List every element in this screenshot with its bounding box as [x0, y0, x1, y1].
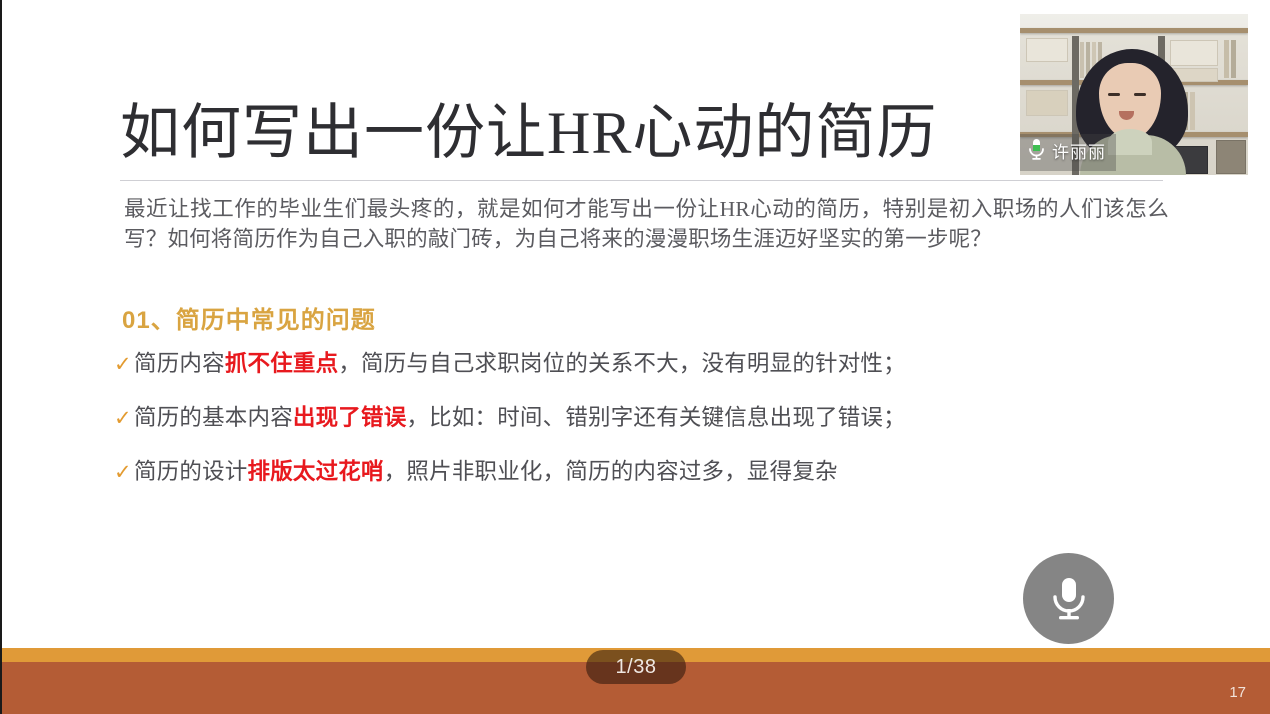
checkmark-icon: ✓	[114, 348, 134, 380]
participant-name-badge: 许丽丽	[1020, 134, 1116, 171]
list-item-text: 简历内容抓不住重点，简历与自己求职岗位的关系不大，没有明显的针对性；	[134, 348, 906, 380]
section-heading-label: 简历中常见的问题	[176, 308, 376, 334]
list-item-tail: ，比如：时间、错别字还有关键信息出现了错误；	[406, 405, 905, 430]
slide-viewer: 如何写出一份让HR心动的简历 最近让找工作的毕业生们最头疼的，就是如何才能写出一…	[0, 0, 1270, 714]
list-item-text: 简历的设计排版太过花哨，照片非职业化，简历的内容过多，显得复杂	[134, 456, 838, 488]
page-indicator[interactable]: 1/38	[586, 650, 686, 684]
list-item-emphasis: 抓不住重点	[225, 351, 339, 376]
list-item-emphasis: 排版太过花哨	[248, 459, 384, 484]
list-item-lead: 简历的设计	[134, 459, 248, 484]
list-item-tail: ，简历与自己求职岗位的关系不大，没有明显的针对性；	[338, 351, 906, 376]
list-item-emphasis: 出现了错误	[293, 405, 407, 430]
bullet-list: ✓ 简历内容抓不住重点，简历与自己求职岗位的关系不大，没有明显的针对性； ✓ 简…	[114, 348, 1174, 510]
list-item-lead: 简历的基本内容	[134, 405, 293, 430]
list-item: ✓ 简历的设计排版太过花哨，照片非职业化，简历的内容过多，显得复杂	[114, 456, 1174, 488]
checkmark-icon: ✓	[114, 402, 134, 434]
list-item: ✓ 简历内容抓不住重点，简历与自己求职岗位的关系不大，没有明显的针对性；	[114, 348, 1174, 380]
list-item-tail: ，照片非职业化，简历的内容过多，显得复杂	[384, 459, 838, 484]
participant-video-tile[interactable]: 许丽丽	[1020, 14, 1248, 175]
microphone-icon	[1047, 573, 1091, 625]
list-item: ✓ 简历的基本内容出现了错误，比如：时间、错别字还有关键信息出现了错误；	[114, 402, 1174, 434]
mic-toggle-button[interactable]	[1023, 553, 1114, 644]
slide-intro-paragraph: 最近让找工作的毕业生们最头疼的，就是如何才能写出一份让HR心动的简历，特别是初入…	[124, 194, 1169, 254]
checkmark-icon: ✓	[114, 456, 134, 488]
section-heading-number: 01、	[122, 307, 176, 334]
participant-name: 许丽丽	[1052, 142, 1106, 164]
section-heading: 01、简历中常见的问题	[122, 300, 376, 335]
list-item-text: 简历的基本内容出现了错误，比如：时间、错别字还有关键信息出现了错误；	[134, 402, 906, 434]
title-divider	[120, 180, 1163, 181]
footer-page-number: 17	[1229, 684, 1246, 702]
microphone-icon	[1028, 137, 1045, 168]
list-item-lead: 简历内容	[134, 351, 225, 376]
slide-title: 如何写出一份让HR心动的简历	[120, 96, 937, 170]
